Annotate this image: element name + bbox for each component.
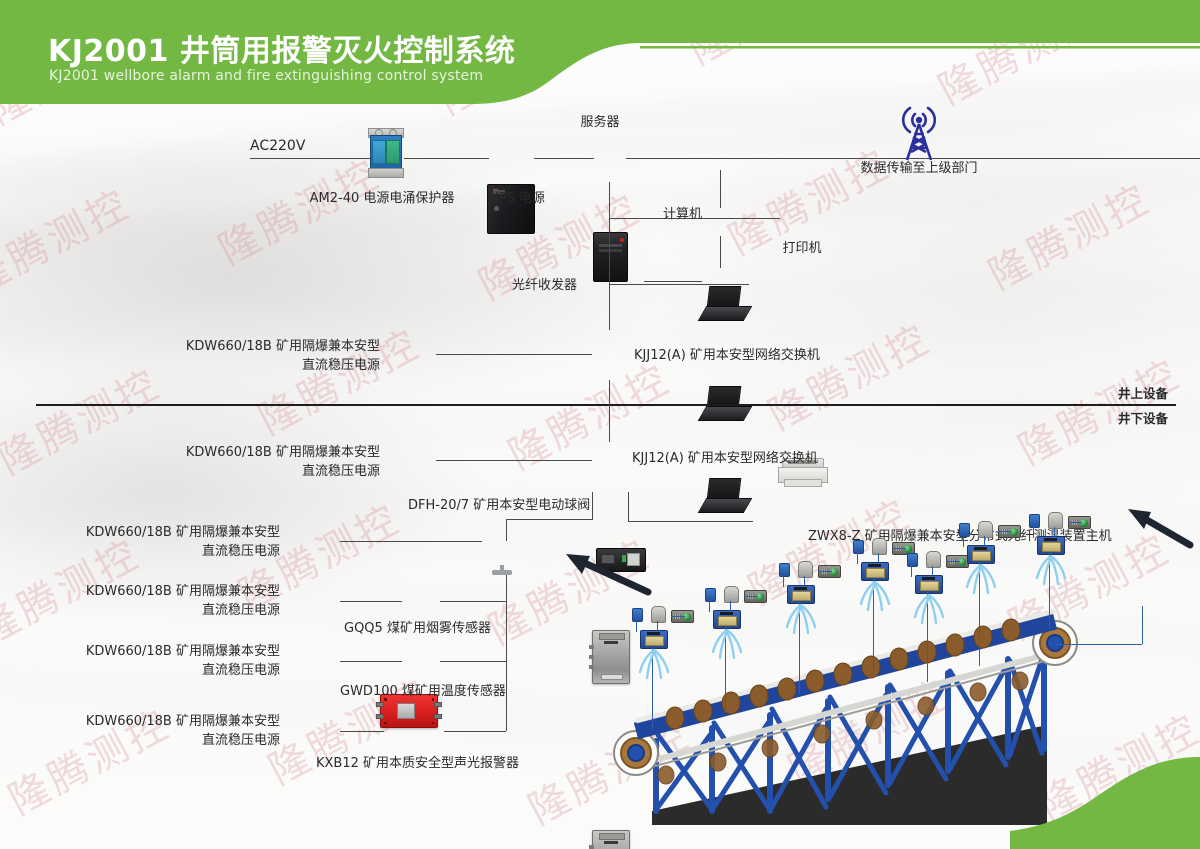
node-spray-icon [779, 603, 823, 637]
line-switch-to-valve-h [506, 519, 593, 520]
page-title: KJ2001 井筒用报警灭火控制系统 [48, 26, 515, 70]
line-row4-to-alarm [340, 731, 384, 732]
line-server-to-switch [609, 182, 610, 330]
conveyor-belt-icon [600, 535, 1200, 849]
converter-label: 光纤收发器 [512, 277, 577, 296]
line-bus-computer-low [609, 284, 749, 285]
surge-protector-label: AM2-40 电源电涌保护器 [306, 190, 458, 209]
audible-visual-alarm-label: KXB12 矿用本质安全型声光报警器 [316, 755, 508, 774]
node-spray-icon [705, 628, 749, 662]
surface-power-supply-line1: KDW660/18B 矿用隔爆兼本安型 [186, 339, 380, 354]
node-valve-box [915, 575, 943, 594]
node-valve-box [967, 545, 995, 564]
surge-protector-device [368, 128, 402, 176]
node-smoke-sensor [926, 551, 941, 568]
underground-power-supply-top-label: KDW660/18B 矿用隔爆兼本安型 直流稳压电源 [150, 444, 380, 482]
power-supply-row-label: KDW660/18B 矿用隔爆兼本安型 直流稳压电源 [60, 524, 280, 562]
power-supply-row-label: KDW660/18B 矿用隔爆兼本安型 直流稳压电源 [60, 643, 280, 681]
power-supply-row-label: KDW660/18B 矿用隔爆兼本安型 直流稳压电源 [60, 583, 280, 621]
node-temperature-sensor [853, 540, 864, 554]
power-row-4-line1: KDW660/18B 矿用隔爆兼本安型 [86, 714, 280, 729]
node-temperature-sensor [907, 553, 918, 567]
power-row-2-line1: KDW660/18B 矿用隔爆兼本安型 [86, 584, 280, 599]
node-spray-icon [1029, 554, 1073, 588]
page-header: KJ2001 井筒用报警灭火控制系统 KJ2001 wellbore alarm… [0, 0, 1200, 112]
printer-label: 打印机 [772, 240, 832, 259]
line-computer-to-printer [736, 218, 780, 219]
power-row-1-line1: KDW660/18B 矿用隔爆兼本安型 [86, 525, 280, 540]
line-trunk-cross-divider [609, 380, 610, 442]
line-temp-bus-right [440, 661, 506, 662]
node-temperature-sensor [1029, 514, 1040, 528]
node-smoke-sensor [798, 561, 813, 578]
node-spray-icon [959, 563, 1003, 597]
line-computer-1-2 [720, 170, 721, 208]
surface-underground-divider [36, 404, 1176, 406]
power-supply-row-label: KDW660/18B 矿用隔爆兼本安型 直流稳压电源 [60, 713, 280, 751]
node-smoke-sensor [724, 586, 739, 603]
node-valve-box [1037, 536, 1065, 555]
ups-label: UPS 电源 [487, 190, 547, 209]
line-row1-to-valve [340, 541, 482, 542]
node-temperature-sensor [705, 588, 716, 602]
power-row-4-line2: 直流稳压电源 [202, 733, 280, 748]
smoke-sensor-label: GQQ5 煤矿用烟雾传感器 [344, 620, 488, 639]
node-temperature-sensor [959, 523, 970, 537]
line-ug-power-to-switch [436, 460, 592, 461]
node-spray-icon [853, 580, 897, 614]
computer-device [702, 286, 748, 320]
computer-device [702, 386, 748, 420]
server-label: 服务器 [568, 114, 632, 133]
temperature-sensor-label: GWD100 煤矿用温度传感器 [340, 683, 500, 702]
power-row-1-line2: 直流稳压电源 [202, 544, 280, 559]
below-ground-label: 井下设备 [1118, 410, 1168, 428]
line-alarm-bus-right [444, 731, 506, 732]
computer-device [702, 478, 748, 512]
node-temperature-sensor [779, 563, 790, 577]
line-smoke-bus-right [440, 601, 506, 602]
node-smoke-sensor [978, 521, 993, 538]
node-valve-box [713, 610, 741, 629]
uplink-label: 数据传输至上级部门 [846, 160, 992, 179]
surface-power-supply-label: KDW660/18B 矿用隔爆兼本安型 直流稳压电源 [150, 338, 380, 376]
ug-power-top-line2: 直流稳压电源 [302, 464, 380, 479]
page-subtitle: KJ2001 wellbore alarm and fire extinguis… [49, 68, 483, 84]
node-smoke-sensor [651, 606, 666, 623]
line-device-column-riser [506, 575, 507, 731]
line-field-unit-down [1142, 606, 1143, 644]
line-row3-to-temp [340, 661, 402, 662]
line-switch-to-host-h [628, 521, 753, 522]
power-row-2-line2: 直流稳压电源 [202, 603, 280, 618]
node-valve-box [640, 630, 668, 649]
surface-power-supply-line2: 直流稳压电源 [302, 358, 380, 373]
line-ups-to-server [534, 158, 594, 159]
valve-flange [492, 570, 512, 575]
ac-input-label: AC220V [250, 136, 305, 156]
underground-switch-label: KJJ12(A) 矿用本安型网络交换机 [632, 450, 818, 469]
surface-switch-label: KJJ12(A) 矿用本安型网络交换机 [634, 347, 820, 366]
line-surface-power-to-switch [436, 354, 592, 355]
ug-power-top-line1: KDW660/18B 矿用隔爆兼本安型 [186, 445, 380, 460]
line-converter-to-computer [644, 281, 702, 282]
node-smoke-sensor [872, 538, 887, 555]
node-temperature-sensor [632, 608, 643, 622]
node-spray-icon [907, 593, 951, 627]
line-switch-down-host [628, 492, 629, 521]
node-smoke-sensor [1048, 512, 1063, 529]
line-row2-to-smoke [340, 601, 402, 602]
diagram-page: 隆腾测控 隆腾测控 隆腾测控 隆腾测控 隆腾测控 隆腾测控 隆腾测控 隆腾测控 … [0, 0, 1200, 849]
line-ac-to-spd [250, 158, 370, 159]
server-device [593, 232, 628, 282]
node-spray-icon [632, 648, 676, 682]
power-row-3-line2: 直流稳压电源 [202, 663, 280, 678]
line-computer-2-3 [720, 236, 721, 268]
above-ground-label: 井上设备 [1118, 385, 1168, 403]
line-spd-to-ups [404, 158, 489, 159]
line-switch-down-valve [592, 492, 593, 519]
node-valve-box [787, 585, 815, 604]
node-valve-box [861, 562, 889, 581]
computer-label: 计算机 [663, 206, 702, 225]
line-field-unit-to-pulley [1056, 644, 1142, 645]
line-valve-drop [506, 519, 507, 541]
ball-valve-label: DFH-20/7 矿用本安型电动球阀 [408, 497, 590, 516]
power-row-3-line1: KDW660/18B 矿用隔爆兼本安型 [86, 644, 280, 659]
